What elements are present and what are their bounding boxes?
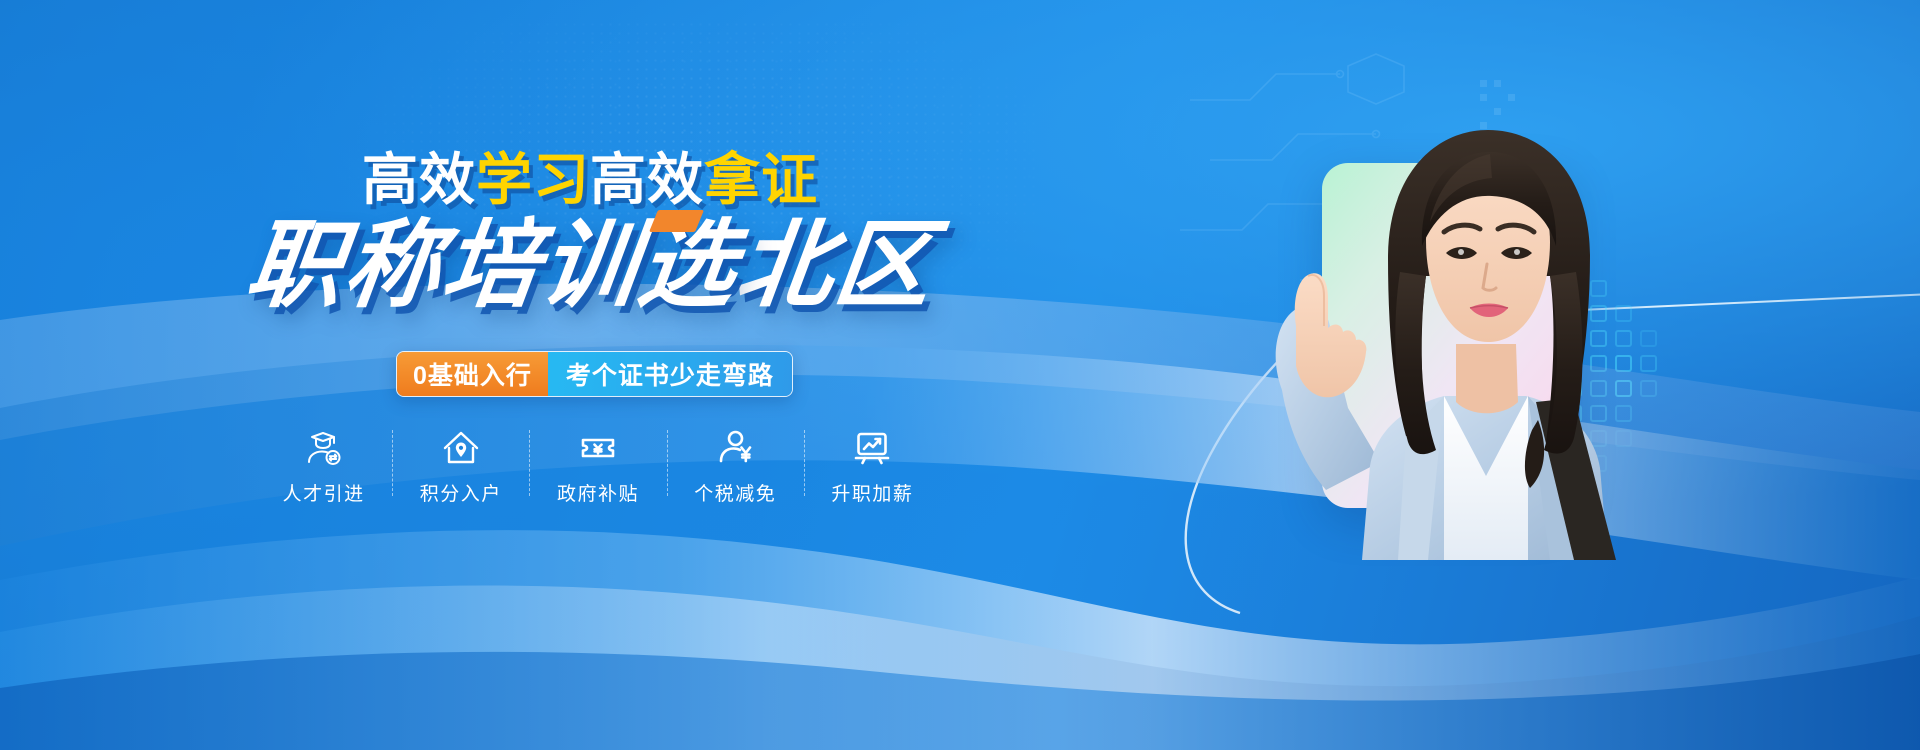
feature-label: 个税减免 xyxy=(694,479,776,506)
headline-sub-seg-1: 高效 xyxy=(362,148,476,211)
person-yuan-icon xyxy=(715,428,755,468)
graduate-person-icon xyxy=(304,428,344,468)
headline-main-accent-wrap: 选 xyxy=(633,218,743,314)
promo-banner: 高效学习高效拿证 职称培训选北区 0基础入行 考个证书少走弯路 xyxy=(0,0,1920,750)
headline-main-pre: 职称培训 xyxy=(240,212,645,319)
ticket-yuan-icon xyxy=(578,428,618,468)
feature-label: 政府补贴 xyxy=(557,479,639,506)
feature-item-promotion[interactable]: 升职加薪 xyxy=(804,428,941,506)
headline-sub-seg-2: 学习 xyxy=(476,148,590,211)
badge-right-label: 考个证书少走弯路 xyxy=(548,352,792,396)
feature-item-tax[interactable]: 个税减免 xyxy=(667,428,804,506)
headline-main-post: 北区 xyxy=(730,212,939,319)
headline-main: 职称培训选北区 xyxy=(0,218,1186,314)
tagline-badge[interactable]: 0基础入行 考个证书少走弯路 xyxy=(396,351,793,397)
headline-sub-seg-3: 高效 xyxy=(590,148,704,211)
feature-label: 人才引进 xyxy=(283,479,365,506)
chart-board-icon xyxy=(852,428,892,468)
orange-accent-slash xyxy=(649,210,704,232)
headline-sub: 高效学习高效拿证 xyxy=(0,152,1180,208)
feature-item-talent[interactable]: 人才引进 xyxy=(255,428,392,506)
headline-sub-seg-4: 拿证 xyxy=(704,148,818,211)
feature-item-residency[interactable]: 积分入户 xyxy=(392,428,529,506)
badge-left-label: 0基础入行 xyxy=(397,352,548,396)
feature-item-subsidy[interactable]: 政府补贴 xyxy=(529,428,666,506)
avatar xyxy=(1230,90,1670,560)
house-pin-icon xyxy=(441,428,481,468)
copy-block: 高效学习高效拿证 职称培训选北区 0基础入行 考个证书少走弯路 xyxy=(0,0,1180,750)
feature-label: 升职加薪 xyxy=(831,479,913,506)
feature-list: 人才引进 积分入户 xyxy=(255,428,941,518)
feature-label: 积分入户 xyxy=(420,479,502,506)
